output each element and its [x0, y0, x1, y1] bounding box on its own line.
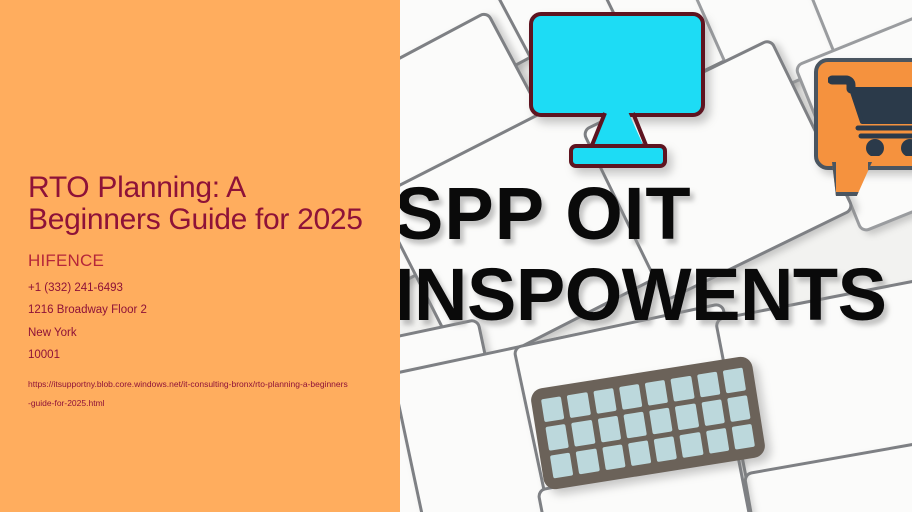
illustration-key: [731, 423, 755, 449]
shopping-cart-icon: [828, 74, 912, 156]
contact-zip: 10001: [28, 344, 368, 366]
shopping-cart-bubble-icon: [814, 58, 912, 196]
illustration-key: [705, 428, 729, 454]
company-name: HIFENCE: [28, 251, 368, 271]
page-root: RTO Planning: A Beginners Guide for 2025…: [0, 0, 912, 512]
illustration-key: [567, 392, 591, 418]
illustration-key: [628, 440, 652, 466]
article-info-content: RTO Planning: A Beginners Guide for 2025…: [28, 172, 368, 412]
illustration-key: [602, 444, 626, 470]
illustration-key: [727, 396, 751, 422]
illustration-key: [571, 420, 595, 446]
monitor-base: [569, 144, 667, 168]
illustration-key: [623, 412, 647, 438]
speech-bubble-tail: [832, 162, 872, 196]
article-url-link[interactable]: https://itsupportny.blob.core.windows.ne…: [28, 375, 348, 412]
contact-street: 1216 Broadway Floor 2: [28, 299, 368, 321]
illustration-key: [697, 372, 721, 398]
illustration-key: [675, 404, 699, 430]
illustration-key: [645, 380, 669, 406]
illustration-key: [722, 368, 746, 394]
illustration-key: [654, 436, 678, 462]
illustration-key: [619, 384, 643, 410]
monitor-icon: [529, 12, 711, 170]
illustration-key: [541, 396, 565, 422]
illustration-key: [649, 408, 673, 434]
contact-city: New York: [28, 322, 368, 344]
hero-image: ıııı ∨ ˥ ⚑ ⁂ ذلبى: [400, 0, 912, 512]
article-info-panel: RTO Planning: A Beginners Guide for 2025…: [0, 0, 400, 512]
illustration-key: [597, 416, 621, 442]
contact-phone: +1 (332) 241-6493: [28, 277, 368, 299]
illustration-key: [545, 424, 569, 450]
illustration-key: [701, 400, 725, 426]
illustration-key: [576, 448, 600, 474]
illustration-key: [671, 376, 695, 402]
illustration-key: [679, 432, 703, 458]
page-title: RTO Planning: A Beginners Guide for 2025: [28, 172, 368, 237]
monitor-screen: [529, 12, 705, 117]
illustration-key: [593, 388, 617, 414]
illustration-key: [550, 452, 574, 478]
